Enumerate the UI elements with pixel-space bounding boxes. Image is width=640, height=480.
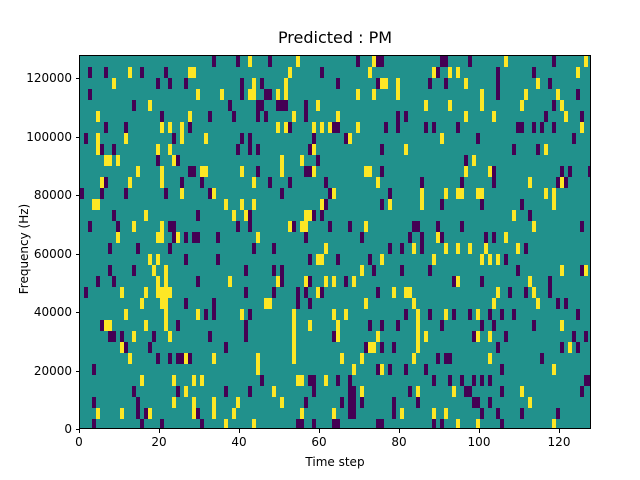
x-tick-mark xyxy=(559,429,560,433)
y-tick-mark xyxy=(76,137,80,138)
heatmap-axes xyxy=(79,55,591,429)
x-tick-mark xyxy=(399,429,400,433)
x-tick-mark xyxy=(159,429,160,433)
y-tick-label: 100000 xyxy=(8,130,72,144)
x-tick-mark xyxy=(239,429,240,433)
x-tick-label: 80 xyxy=(391,435,406,449)
y-axis-label: Frequency (Hz) xyxy=(17,179,31,319)
x-tick-label: 40 xyxy=(231,435,246,449)
y-tick-mark xyxy=(76,371,80,372)
y-tick-label: 0 xyxy=(8,422,72,436)
x-tick-label: 60 xyxy=(311,435,326,449)
x-tick-mark xyxy=(319,429,320,433)
x-tick-mark xyxy=(479,429,480,433)
x-tick-label: 100 xyxy=(468,435,491,449)
y-tick-mark xyxy=(76,78,80,79)
y-tick-mark xyxy=(76,312,80,313)
y-tick-label: 20000 xyxy=(8,364,72,378)
figure-canvas: Predicted : PM 0204060801001200200004000… xyxy=(0,0,640,480)
y-tick-label: 120000 xyxy=(8,71,72,85)
heatmap-canvas xyxy=(80,56,591,429)
x-tick-mark xyxy=(79,429,80,433)
x-tick-label: 0 xyxy=(75,435,83,449)
y-tick-mark xyxy=(76,429,80,430)
chart-title-container: Predicted : PM xyxy=(79,28,591,47)
y-tick-mark xyxy=(76,254,80,255)
y-tick-mark xyxy=(76,195,80,196)
x-tick-label: 120 xyxy=(548,435,571,449)
x-axis-label: Time step xyxy=(79,455,591,469)
x-tick-label: 20 xyxy=(151,435,166,449)
page-title: Predicted : PM xyxy=(278,28,392,47)
